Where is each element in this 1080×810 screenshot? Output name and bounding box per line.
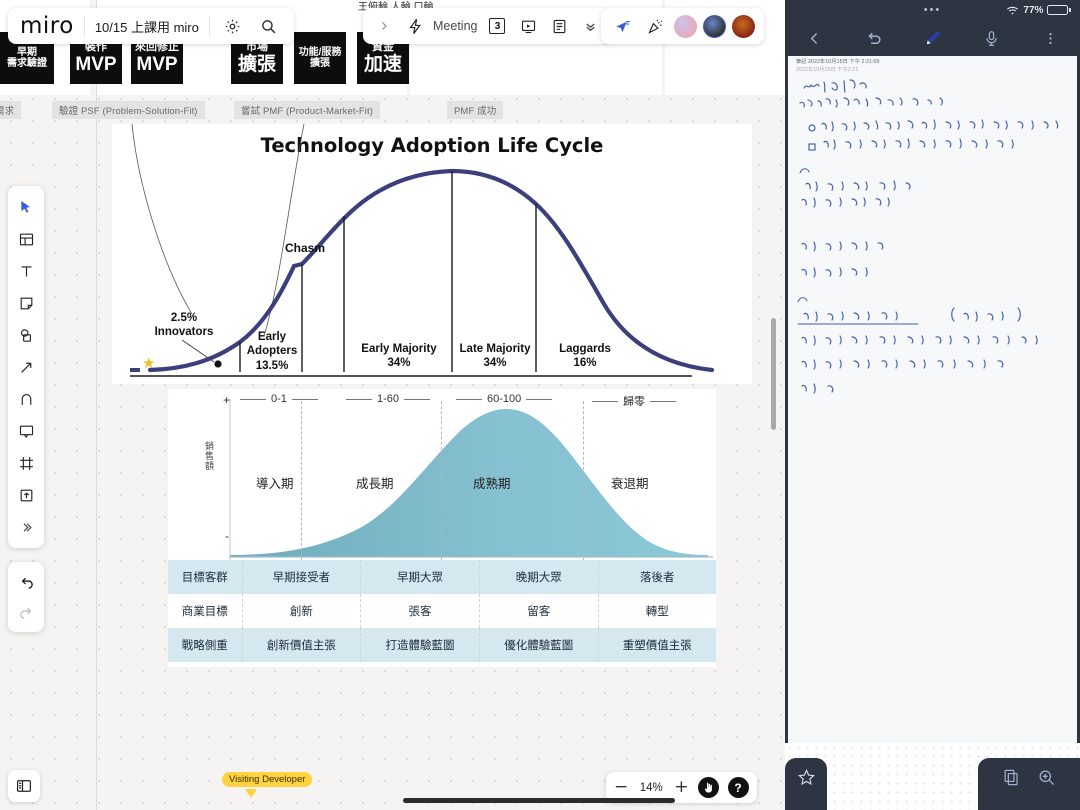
seg-line-3: 13.5% bbox=[243, 359, 301, 373]
seg-line-2: 16% bbox=[544, 356, 626, 370]
select-tool-cursor-arrow-icon[interactable] bbox=[11, 192, 41, 222]
sticky-line-1: 早期 bbox=[17, 47, 37, 58]
notes-icon[interactable] bbox=[546, 13, 572, 39]
chevron-right-icon[interactable] bbox=[371, 13, 397, 39]
range-text: 歸零 bbox=[623, 393, 645, 409]
seg-line-1: Late Majority bbox=[454, 342, 536, 356]
innovators-name: Innovators bbox=[136, 325, 232, 339]
phase-divider-1 bbox=[441, 401, 442, 561]
notes-footer-actions bbox=[978, 758, 1080, 810]
history-toolbar bbox=[8, 562, 44, 632]
table-row: 目標客群 早期接受者 早期大眾 晚期大眾 落後者 bbox=[168, 560, 716, 594]
phase-divider-2 bbox=[583, 401, 584, 561]
dash-left bbox=[240, 399, 266, 400]
table-cell: 早期接受者 bbox=[242, 560, 361, 594]
range-text: 60-100 bbox=[487, 393, 521, 405]
arrow-tool-arrow-line-icon[interactable] bbox=[11, 352, 41, 382]
pen-tool-pen-icon[interactable] bbox=[11, 384, 41, 414]
collaboration-bar bbox=[601, 8, 764, 44]
battery-icon bbox=[1047, 5, 1071, 15]
dash-left bbox=[456, 399, 482, 400]
axis-plus-label: + bbox=[223, 393, 230, 407]
zoom-level[interactable]: 14% bbox=[637, 782, 665, 794]
range-label-3: 歸零 bbox=[592, 393, 676, 409]
back-button-chevron-left-icon[interactable] bbox=[800, 23, 830, 53]
range-label-1: 1-60 bbox=[346, 393, 430, 405]
battery-percent: 77% bbox=[1023, 5, 1043, 16]
table-cell: 晚期大眾 bbox=[479, 560, 598, 594]
canvas-frame-divider bbox=[96, 0, 97, 810]
more-tools-chevron-double-right-icon[interactable] bbox=[11, 512, 41, 542]
text-tool-text-t-icon[interactable] bbox=[11, 256, 41, 286]
favorite-star-icon[interactable] bbox=[785, 758, 827, 810]
miro-board-app: 王俯輪 人輪 口輪 早期 需求驗證 裝作 MVP 來回修正 MVP 市場 擴張 … bbox=[0, 0, 785, 810]
collaborator-cursor-label: Visiting Developer bbox=[222, 772, 312, 787]
phase-divider-0 bbox=[301, 401, 302, 561]
participants-count-badge[interactable]: 3 bbox=[484, 13, 510, 39]
pen-button-pen-icon[interactable] bbox=[918, 23, 948, 53]
templates-tool-templates-icon[interactable] bbox=[11, 224, 41, 254]
star-marker-icon: ★ bbox=[142, 354, 155, 372]
frame-label-3[interactable]: PMF 成功 bbox=[447, 101, 503, 119]
zoom-in-button[interactable]: + bbox=[674, 779, 688, 796]
strategy-table[interactable]: 目標客群 早期接受者 早期大眾 晚期大眾 落後者 商業目標 創新 張客 留客 轉… bbox=[168, 560, 716, 662]
seg-line-2: 34% bbox=[345, 356, 453, 370]
dash-left bbox=[346, 399, 372, 400]
redo-arrow-icon[interactable] bbox=[11, 597, 41, 627]
avatar-user-2[interactable] bbox=[703, 15, 726, 38]
divider bbox=[84, 16, 85, 36]
frame-label-2[interactable]: 嘗試 PMF (Product-Market-Fit) bbox=[234, 101, 380, 119]
chart2-ylabel: 銷售額 bbox=[203, 441, 216, 471]
lightning-icon[interactable] bbox=[402, 13, 428, 39]
sticky-line-2: MVP bbox=[75, 54, 116, 75]
dash-right bbox=[404, 399, 430, 400]
side-panel-icon[interactable] bbox=[8, 770, 40, 802]
more-button-vertical-dots-icon[interactable] bbox=[1036, 23, 1066, 53]
undo-arrow-icon[interactable] bbox=[11, 567, 41, 597]
zoom-out-button[interactable]: − bbox=[614, 779, 628, 796]
meeting-bar: Meeting 3 bbox=[363, 8, 611, 44]
sticky-note-4[interactable]: 功能/服務 擴張 bbox=[294, 32, 346, 84]
chevron-double-down-icon[interactable] bbox=[577, 13, 603, 39]
range-text: 1-60 bbox=[377, 393, 399, 405]
screen-root: 王俯輪 人輪 口輪 早期 需求驗證 裝作 MVP 來回修正 MVP 市場 擴張 … bbox=[0, 0, 1080, 810]
upload-tool-upload-icon[interactable] bbox=[11, 480, 41, 510]
present-icon[interactable] bbox=[515, 13, 541, 39]
table-cell: 重塑價值主張 bbox=[598, 628, 716, 662]
table-cell: 轉型 bbox=[598, 594, 716, 628]
badge-number: 3 bbox=[489, 18, 505, 34]
dash-left bbox=[592, 401, 618, 402]
hand-pointer-icon[interactable] bbox=[698, 777, 719, 798]
comment-tool-comment-icon[interactable] bbox=[11, 416, 41, 446]
sticky-line-2: 擴張 bbox=[310, 58, 330, 69]
party-popper-icon[interactable] bbox=[642, 13, 668, 39]
table-cell: 早期大眾 bbox=[361, 560, 480, 594]
sticky-line-2: 擴張 bbox=[238, 54, 276, 75]
table-cell: 落後者 bbox=[598, 560, 716, 594]
phase-label-1: 成長期 bbox=[356, 473, 394, 492]
notes-toolbar bbox=[785, 20, 1080, 56]
cursor-share-icon[interactable] bbox=[610, 13, 636, 39]
shapes-tool-shapes-icon[interactable] bbox=[11, 320, 41, 350]
chasm-label: Chasm bbox=[285, 241, 325, 255]
seg-line-1: Early bbox=[243, 330, 301, 344]
status-right: 77% bbox=[1006, 5, 1071, 16]
table-cell: 優化體驗藍圖 bbox=[479, 628, 598, 662]
seg-line-1: Laggards bbox=[544, 342, 626, 356]
row-header: 戰略側重 bbox=[168, 628, 242, 662]
phase-label-3: 衰退期 bbox=[611, 473, 649, 492]
microphone-button-microphone-icon[interactable] bbox=[977, 23, 1007, 53]
divider bbox=[209, 16, 210, 36]
range-text: 0-1 bbox=[271, 393, 287, 405]
frame-label-1[interactable]: 驗證 PSF (Problem-Solution-Fit) bbox=[52, 101, 205, 119]
note-canvas[interactable]: 筆記 2022年10月15日 下午 2:21:09 2022年10月15日 下午… bbox=[788, 56, 1077, 743]
avatar-user-3[interactable] bbox=[732, 15, 755, 38]
board-header-bar: miro 10/15 上課用 miro bbox=[8, 8, 294, 44]
question-mark-icon[interactable]: ? bbox=[728, 777, 749, 798]
dash-right bbox=[292, 399, 318, 400]
vertical-scrollbar[interactable] bbox=[771, 318, 776, 430]
frame-tool-frame-icon[interactable] bbox=[11, 448, 41, 478]
sticky-line-2: 加速 bbox=[364, 54, 402, 75]
row-header: 商業目標 bbox=[168, 594, 242, 628]
axis-minus-label: - bbox=[225, 529, 229, 543]
segment-late-majority: Late Majority 34% bbox=[454, 342, 536, 371]
wifi-icon bbox=[1006, 5, 1019, 16]
technology-adoption-chart[interactable]: Technology Adoption Life Cycle bbox=[112, 124, 752, 384]
avatar-user-1[interactable] bbox=[674, 15, 697, 38]
range-label-0: 0-1 bbox=[240, 393, 318, 405]
range-label-2: 60-100 bbox=[456, 393, 552, 405]
segment-laggards: Laggards 16% bbox=[544, 342, 626, 371]
pages-icon[interactable] bbox=[1002, 768, 1021, 792]
sticky-note-tool-sticky-note-icon[interactable] bbox=[11, 288, 41, 318]
innovators-pct: 2.5% bbox=[136, 311, 232, 325]
dash-right bbox=[526, 399, 552, 400]
undo-button-undo-arrow-icon[interactable] bbox=[859, 23, 889, 53]
seg-line-2: 34% bbox=[454, 356, 536, 370]
dash-right bbox=[650, 401, 676, 402]
handwritten-ink bbox=[788, 56, 1077, 743]
zoom-in-icon[interactable] bbox=[1037, 768, 1056, 792]
device-status-bar: ••• 77% bbox=[785, 0, 1080, 20]
segment-early-majority: Early Majority 34% bbox=[345, 342, 453, 371]
table-row: 戰略側重 創新價值主張 打造體驗藍圖 優化體驗藍圖 重塑價值主張 bbox=[168, 628, 716, 662]
table-row: 商業目標 創新 張客 留客 轉型 bbox=[168, 594, 716, 628]
row-header: 目標客群 bbox=[168, 560, 242, 594]
search-icon[interactable] bbox=[256, 13, 282, 39]
left-toolbar bbox=[8, 186, 44, 548]
status-dots: ••• bbox=[924, 4, 942, 16]
sticky-line-2: MVP bbox=[136, 54, 177, 75]
table-cell: 創新 bbox=[242, 594, 361, 628]
table-cell: 留客 bbox=[479, 594, 598, 628]
table-cell: 創新價值主張 bbox=[242, 628, 361, 662]
meeting-label: Meeting bbox=[433, 19, 477, 33]
notes-app: ••• 77% bbox=[785, 0, 1080, 810]
phase-label-0: 導入期 bbox=[256, 473, 294, 492]
phase-label-2: 成熟期 bbox=[473, 473, 511, 492]
innovators-label: 2.5% Innovators bbox=[136, 311, 232, 340]
gear-icon[interactable] bbox=[220, 13, 246, 39]
segment-early-adopters: Early Adopters 13.5% bbox=[243, 330, 301, 373]
sticky-line-2: 需求驗證 bbox=[7, 58, 47, 69]
seg-line-1: Early Majority bbox=[345, 342, 453, 356]
table-cell: 張客 bbox=[361, 594, 480, 628]
board-title[interactable]: 10/15 上課用 miro bbox=[95, 17, 199, 36]
seg-line-2: Adopters bbox=[243, 344, 301, 358]
sticky-line-1: 功能/服務 bbox=[299, 47, 342, 58]
table-cell: 打造體驗藍圖 bbox=[361, 628, 480, 662]
collaborator-cursor-pointer bbox=[245, 789, 257, 798]
miro-logo[interactable]: miro bbox=[20, 13, 74, 39]
horizontal-scrollbar[interactable] bbox=[403, 798, 675, 803]
frame-label-0[interactable]: 需求 bbox=[0, 101, 21, 119]
